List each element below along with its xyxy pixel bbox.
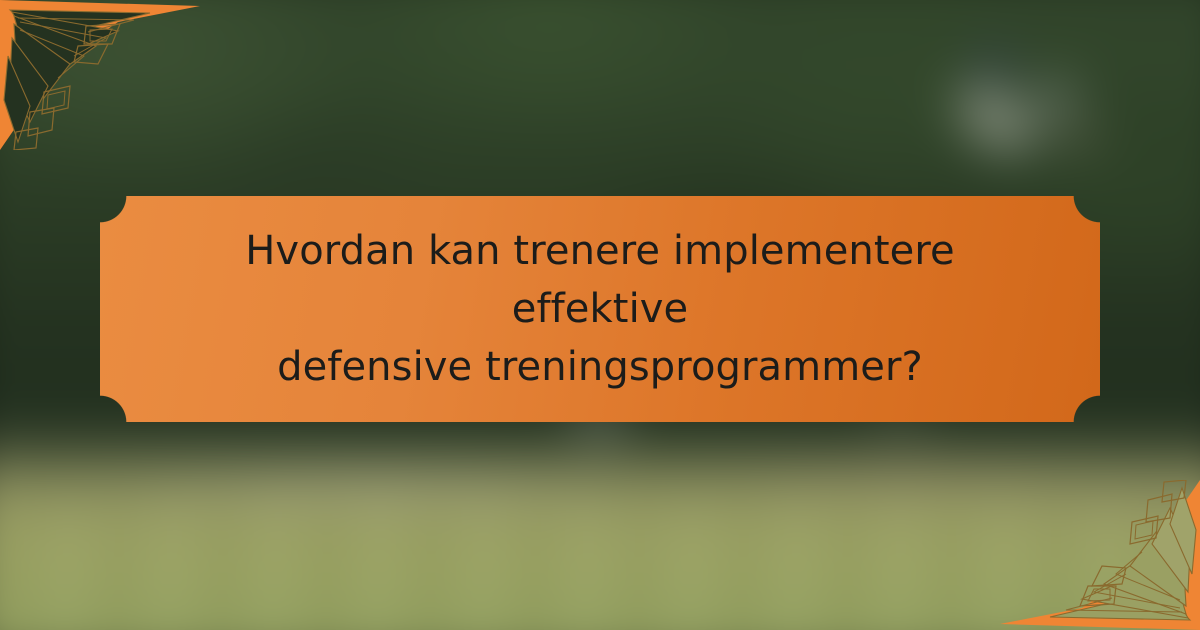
social-card: Hvordan kan trenere implementere effekti… xyxy=(0,0,1200,630)
headline-text: Hvordan kan trenere implementere effekti… xyxy=(170,222,1030,396)
headline-banner: Hvordan kan trenere implementere effekti… xyxy=(100,196,1100,422)
background-person xyxy=(910,50,1100,190)
